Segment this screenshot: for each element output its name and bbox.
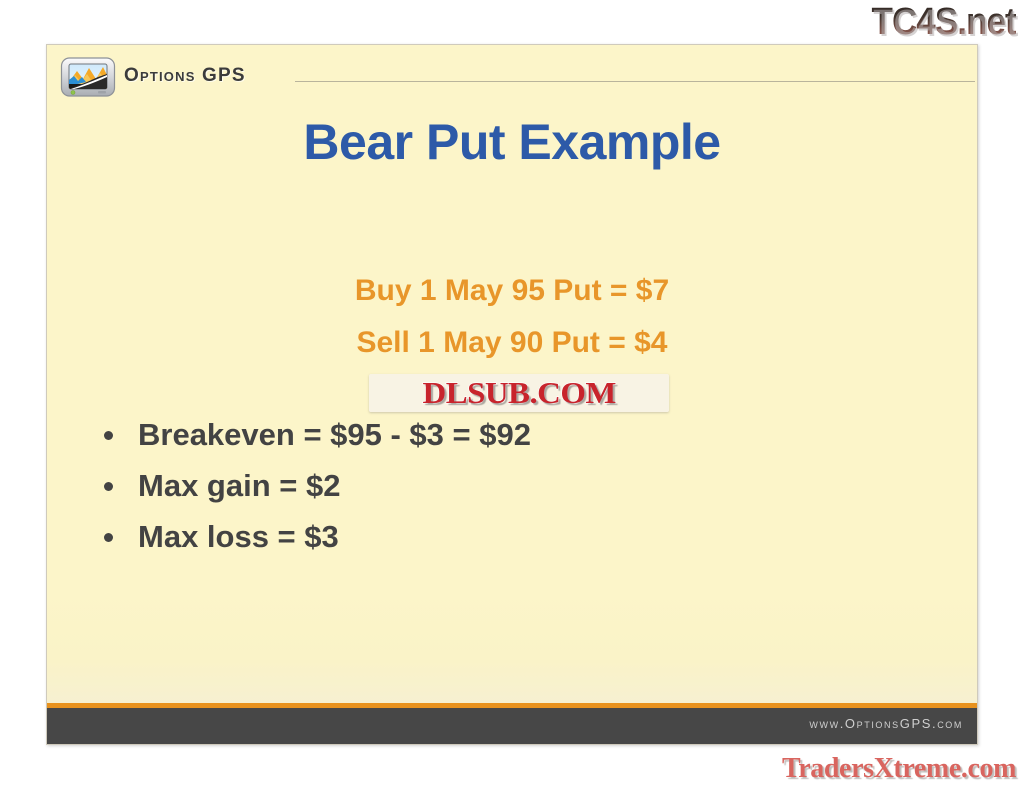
header-divider <box>295 81 975 82</box>
overlay-watermark-text: DLSUB.COM <box>422 377 615 409</box>
bullet-dot-icon <box>104 533 113 542</box>
footer-website-url: www.OptionsGPS.com <box>809 716 963 731</box>
page-watermark-top: TC4S.net <box>872 2 1016 42</box>
list-item: Breakeven = $95 - $3 = $92 <box>95 415 795 455</box>
list-item-label: Breakeven = $95 - $3 = $92 <box>138 417 531 452</box>
bullet-dot-icon <box>104 482 113 491</box>
overlay-watermark: DLSUB.COM <box>369 374 669 412</box>
list-item-label: Max loss = $3 <box>138 519 339 554</box>
slide-header: Options GPS <box>47 45 977 97</box>
trade-line: Buy 1 May 95 Put = $7 <box>47 265 977 317</box>
list-item-label: Max gain = $2 <box>138 468 340 503</box>
list-item: Max loss = $3 <box>95 517 795 557</box>
presentation-slide: Options GPS Bear Put Example Buy 1 May 9… <box>46 44 978 745</box>
slide-footer: www.OptionsGPS.com <box>47 703 977 744</box>
list-item: Max gain = $2 <box>95 466 795 506</box>
brand-name: Options GPS <box>124 65 246 87</box>
page-title: Bear Put Example <box>47 113 977 171</box>
trade-line: Sell 1 May 90 Put = $4 <box>47 317 977 369</box>
gps-device-icon <box>60 55 117 99</box>
trade-lines-group: Buy 1 May 95 Put = $7 Sell 1 May 90 Put … <box>47 265 977 369</box>
bullet-list: Breakeven = $95 - $3 = $92 Max gain = $2… <box>95 415 795 568</box>
page-watermark-bottom: TradersXtreme.com <box>782 753 1016 785</box>
bullet-dot-icon <box>104 431 113 440</box>
